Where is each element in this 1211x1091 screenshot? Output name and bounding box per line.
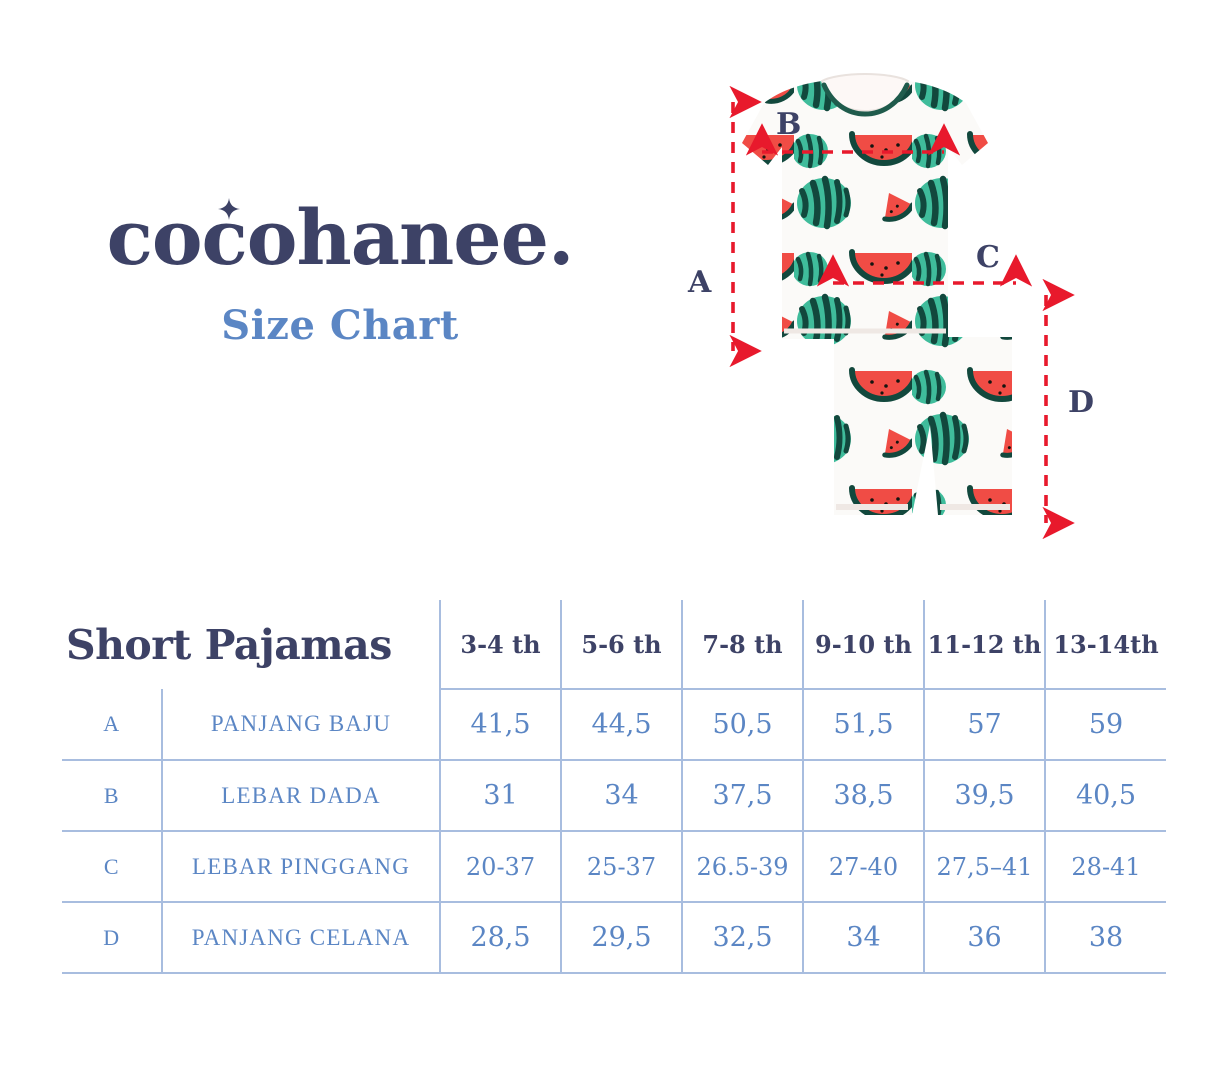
cell-b-2: 34 <box>561 760 682 831</box>
measurement-arrows <box>676 55 1096 555</box>
cell-a-6: 59 <box>1045 689 1166 760</box>
dimension-label-b: B <box>776 110 801 140</box>
cell-d-2: 29,5 <box>561 902 682 973</box>
table-header: Short Pajamas 3-4 th5-6 th7-8 th9-10 th1… <box>62 600 1166 689</box>
row-measurement-label: LEBAR DADA <box>162 760 440 831</box>
cell-a-2: 44,5 <box>561 689 682 760</box>
size-column-header-5: 11-12 th <box>924 600 1045 689</box>
brand-logo-text: cocohanee. <box>107 193 574 282</box>
cell-b-6: 40,5 <box>1045 760 1166 831</box>
cell-c-2: 25-37 <box>561 831 682 902</box>
row-measurement-label: PANJANG CELANA <box>162 902 440 973</box>
cell-d-3: 32,5 <box>682 902 803 973</box>
cell-a-3: 50,5 <box>682 689 803 760</box>
cell-d-4: 34 <box>803 902 924 973</box>
dimension-label-a: A <box>688 268 711 298</box>
dimension-label-d: D <box>1068 388 1094 418</box>
page-subtitle: Size Chart <box>60 302 620 349</box>
size-chart-table: Short Pajamas 3-4 th5-6 th7-8 th9-10 th1… <box>62 600 1166 974</box>
size-column-header-3: 7-8 th <box>682 600 803 689</box>
table-row: BLEBAR DADA313437,538,539,540,5 <box>62 760 1166 831</box>
size-column-header-1: 3-4 th <box>440 600 561 689</box>
cell-d-1: 28,5 <box>440 902 561 973</box>
cell-c-6: 28-41 <box>1045 831 1166 902</box>
cell-d-5: 36 <box>924 902 1045 973</box>
cell-d-6: 38 <box>1045 902 1166 973</box>
size-column-header-4: 9-10 th <box>803 600 924 689</box>
cell-c-3: 26.5-39 <box>682 831 803 902</box>
table-title: Short Pajamas <box>62 600 440 689</box>
row-letter-c: C <box>62 831 162 902</box>
row-measurement-label: PANJANG BAJU <box>162 689 440 760</box>
garment-illustration: A B C D <box>676 55 1096 555</box>
cell-b-3: 37,5 <box>682 760 803 831</box>
cell-b-5: 39,5 <box>924 760 1045 831</box>
table-body: APANJANG BAJU41,544,550,551,55759BLEBAR … <box>62 689 1166 973</box>
row-letter-d: D <box>62 902 162 973</box>
cell-b-4: 38,5 <box>803 760 924 831</box>
row-measurement-label: LEBAR PINGGANG <box>162 831 440 902</box>
brand-logo: cocohanee. <box>107 200 574 276</box>
table-row: CLEBAR PINGGANG20-3725-3726.5-3927-4027,… <box>62 831 1166 902</box>
cell-a-4: 51,5 <box>803 689 924 760</box>
cell-b-1: 31 <box>440 760 561 831</box>
row-letter-a: A <box>62 689 162 760</box>
cell-c-5: 27,5–41 <box>924 831 1045 902</box>
row-letter-b: B <box>62 760 162 831</box>
dimension-label-c: C <box>976 243 1000 273</box>
cell-c-4: 27-40 <box>803 831 924 902</box>
size-column-header-2: 5-6 th <box>561 600 682 689</box>
size-column-header-6: 13-14th <box>1045 600 1166 689</box>
table-header-row: Short Pajamas 3-4 th5-6 th7-8 th9-10 th1… <box>62 600 1166 689</box>
table-row: DPANJANG CELANA28,529,532,5343638 <box>62 902 1166 973</box>
cell-a-1: 41,5 <box>440 689 561 760</box>
size-chart-table-wrapper: Short Pajamas 3-4 th5-6 th7-8 th9-10 th1… <box>62 600 1166 974</box>
cell-a-5: 57 <box>924 689 1045 760</box>
cell-c-1: 20-37 <box>440 831 561 902</box>
brand-block: cocohanee. Size Chart <box>60 200 620 349</box>
table-row: APANJANG BAJU41,544,550,551,55759 <box>62 689 1166 760</box>
